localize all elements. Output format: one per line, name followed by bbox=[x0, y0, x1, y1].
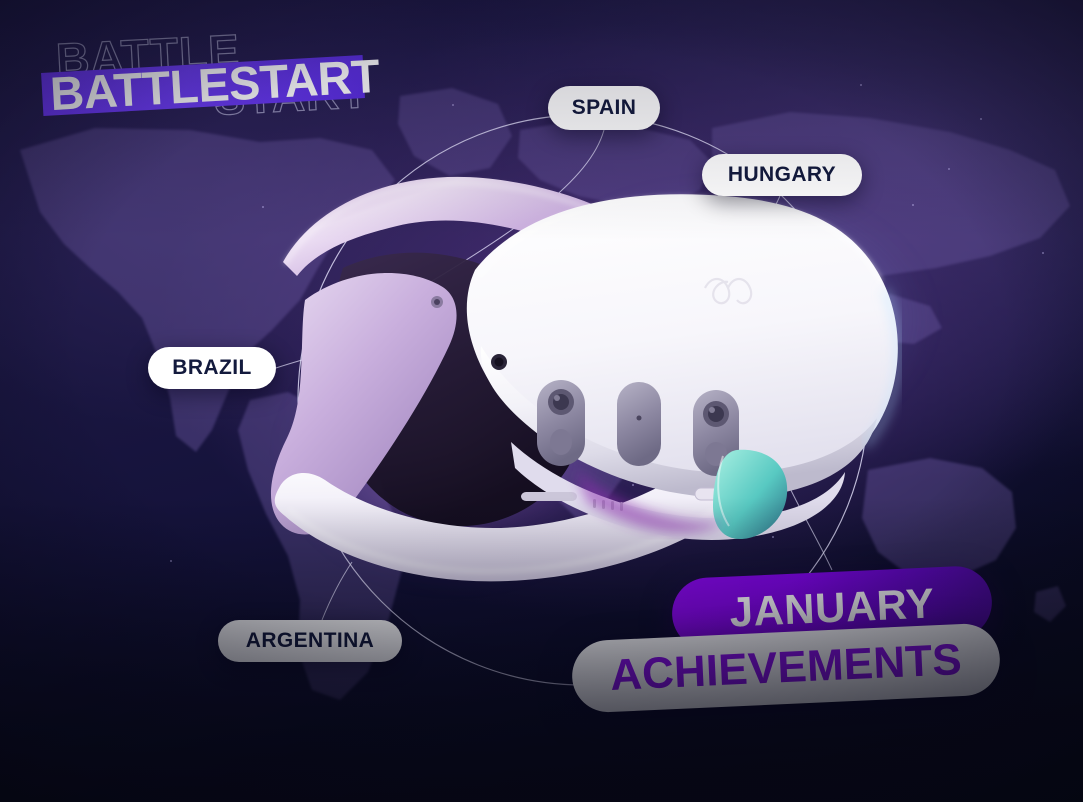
vignette-overlay bbox=[0, 0, 1083, 802]
poster-canvas: SPAIN HUNGARY BRAZIL ARGENTINA BATTLE ST… bbox=[0, 0, 1083, 802]
